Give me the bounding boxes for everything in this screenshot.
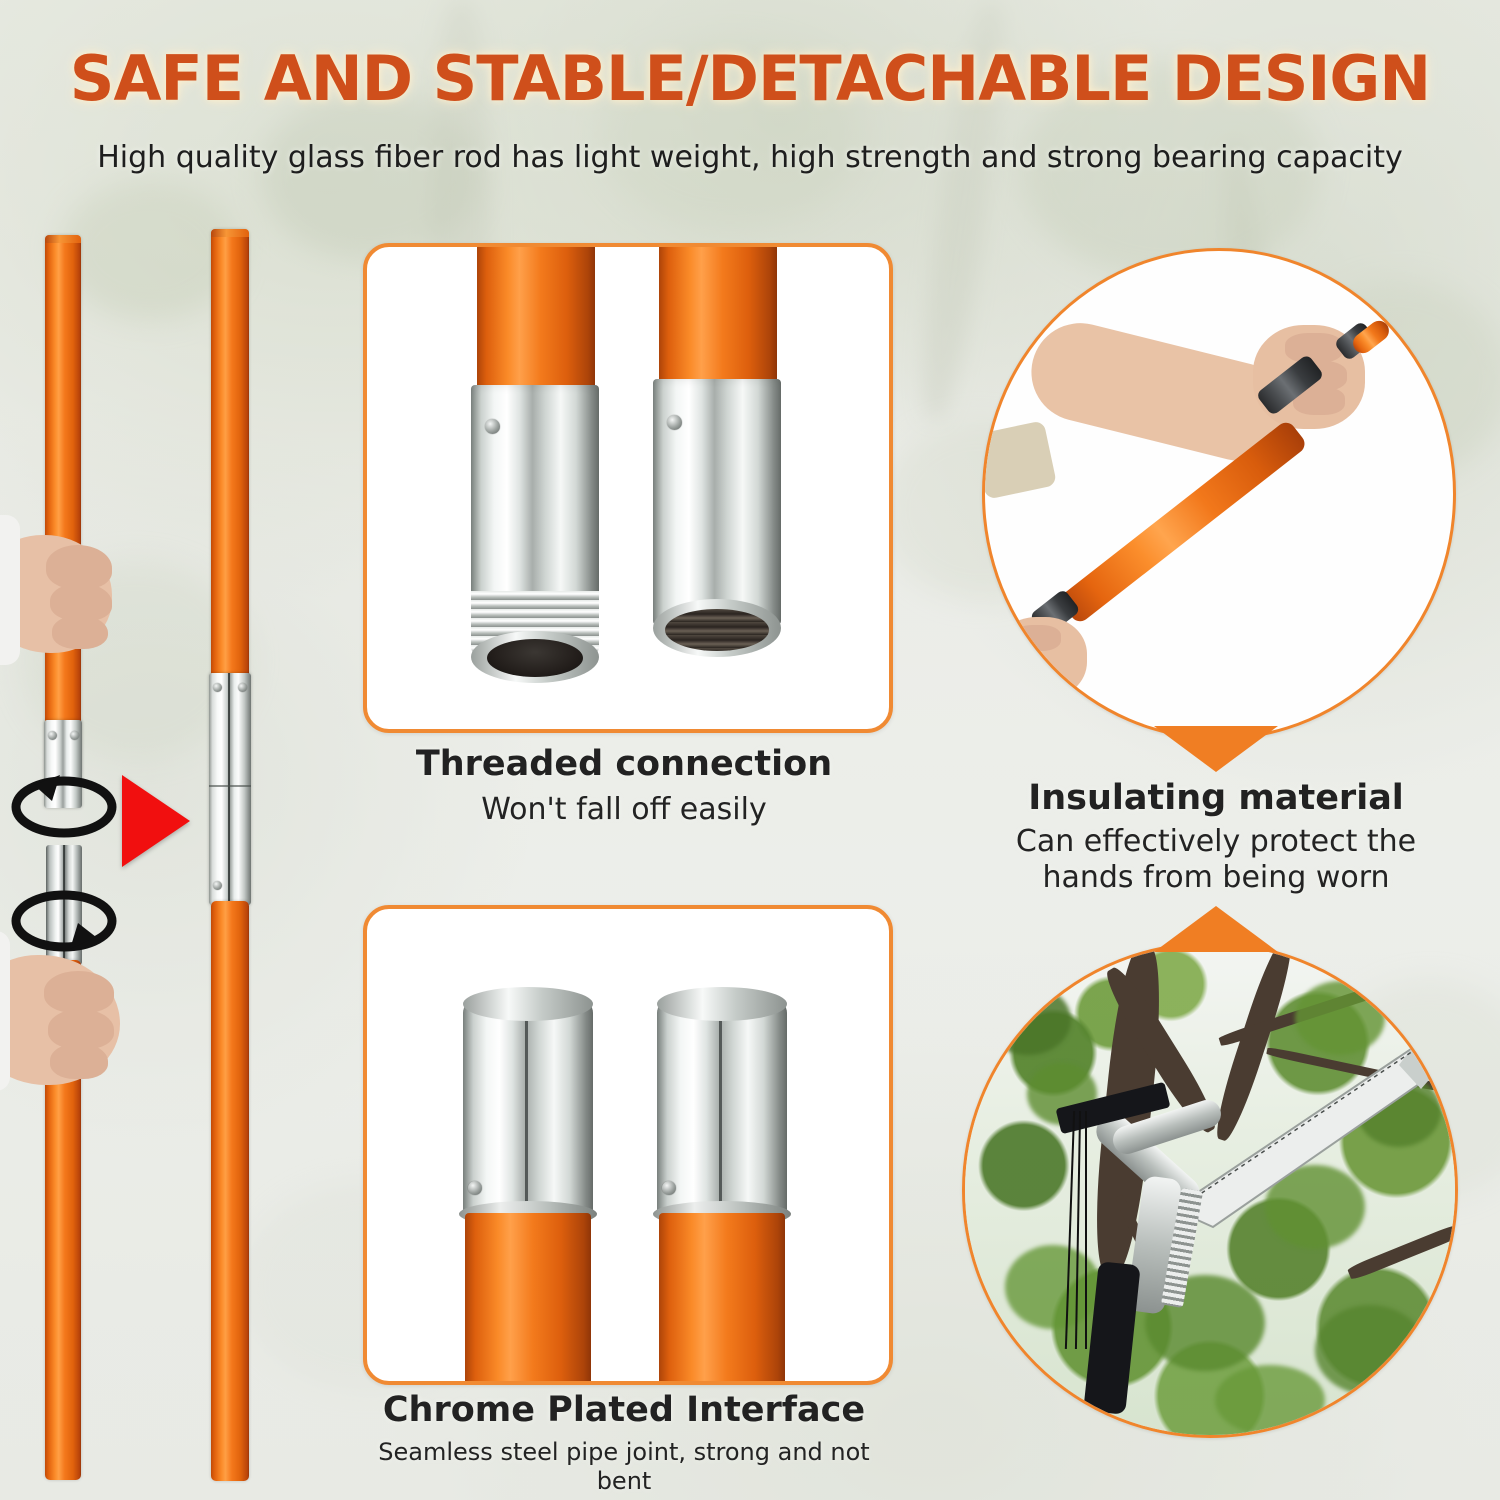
caption-title: Insulating material: [960, 778, 1472, 818]
tree-pruner-photo: [965, 945, 1455, 1435]
detachable-rod-demo: [0, 215, 330, 1500]
infographic-root: SAFE AND STABLE/DETACHABLE DESIGN High q…: [0, 0, 1500, 1500]
threaded-connection-photo: [367, 247, 889, 729]
caption-subtitle-line2: hands from being worn: [960, 860, 1472, 896]
rotate-arrow-icon: [4, 875, 124, 971]
page-title: SAFE AND STABLE/DETACHABLE DESIGN: [0, 48, 1500, 110]
panel-chrome-plated-interface: [363, 905, 893, 1385]
pointer-triangle-up-icon: [1154, 906, 1278, 952]
panel-threaded-connection: [363, 243, 893, 733]
pointer-triangle-down-icon: [1154, 726, 1278, 772]
circle-insulating-material: [982, 248, 1456, 740]
header: SAFE AND STABLE/DETACHABLE DESIGN High q…: [0, 0, 1500, 175]
circle-tree-pruner-in-use: [962, 942, 1458, 1438]
orange-pole: [1057, 419, 1308, 626]
caption-title: Chrome Plated Interface: [363, 1390, 885, 1430]
chrome-plated-interface-photo: [367, 909, 889, 1381]
insulating-material-photo: [985, 251, 1453, 737]
caption-chrome-plated-interface: Chrome Plated Interface Seamless steel p…: [363, 1390, 885, 1496]
caption-subtitle: Won't fall off easily: [363, 792, 885, 828]
rotate-arrow-icon: [4, 755, 124, 851]
page-subtitle: High quality glass fiber rod has light w…: [0, 140, 1500, 175]
caption-insulating-material: Insulating material Can effectively prot…: [960, 778, 1472, 896]
caption-subtitle: Seamless steel pipe joint, strong and no…: [363, 1438, 885, 1496]
caption-title: Threaded connection: [363, 744, 885, 784]
caption-threaded-connection: Threaded connection Won't fall off easil…: [363, 744, 885, 828]
caption-subtitle-line1: Can effectively protect the: [960, 824, 1472, 860]
red-play-arrow-icon: [122, 775, 190, 867]
